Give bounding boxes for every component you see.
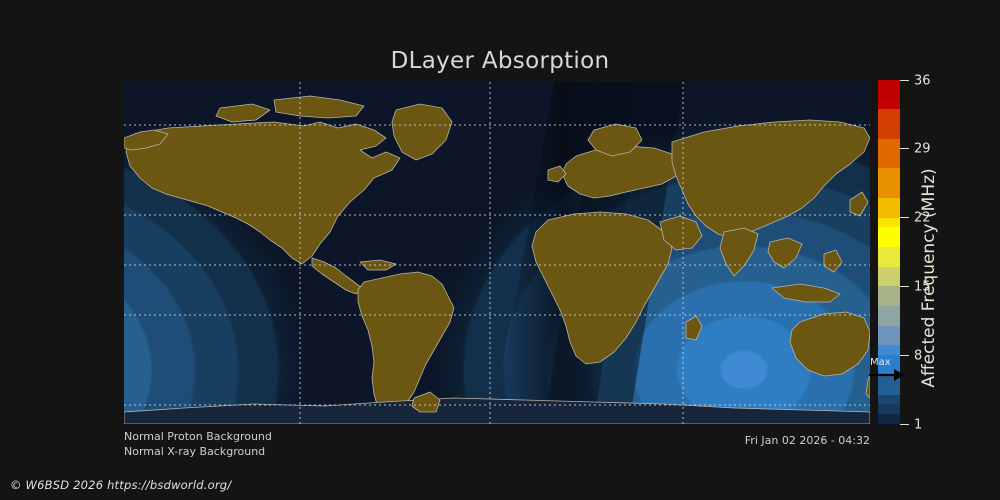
copyright-footer: © W6BSD 2026 https://bsdworld.org/ bbox=[10, 478, 231, 492]
colorbar-tick-dash bbox=[900, 424, 909, 425]
colorbar-tick-dash bbox=[900, 148, 909, 149]
colorbar-band bbox=[878, 109, 900, 138]
colorbar-axis-label: Affected Frequency (MHz) bbox=[916, 106, 942, 450]
colorbar-band bbox=[878, 306, 900, 326]
timestamp: Fri Jan 02 2026 - 04:32 bbox=[500, 434, 870, 447]
colorbar-band bbox=[878, 227, 900, 247]
colorbar-band bbox=[878, 80, 900, 109]
status-block: Normal Proton Background Normal X-ray Ba… bbox=[124, 429, 272, 459]
colorbar-band bbox=[878, 404, 900, 414]
colorbar-tick-dash bbox=[900, 355, 909, 356]
app-root: DLayer Absorption bbox=[0, 0, 1000, 500]
map-panel[interactable] bbox=[124, 82, 870, 424]
colorbar-band bbox=[878, 355, 900, 375]
colorbar-band bbox=[878, 168, 900, 197]
colorbar-tick-dash bbox=[900, 80, 909, 81]
colorbar-band bbox=[878, 375, 900, 395]
colorbar-band bbox=[878, 198, 900, 218]
colorbar[interactable] bbox=[878, 80, 900, 424]
status-proton-background: Normal Proton Background bbox=[124, 429, 272, 444]
colorbar-band bbox=[878, 395, 900, 405]
colorbar-tick-dash bbox=[900, 217, 909, 218]
colorbar-band bbox=[878, 414, 900, 424]
colorbar-band bbox=[878, 247, 900, 267]
colorbar-gradient bbox=[878, 80, 900, 424]
colorbar-band bbox=[878, 267, 900, 287]
world-map[interactable] bbox=[124, 82, 870, 424]
colorbar-tick-dash bbox=[900, 286, 909, 287]
colorbar-band bbox=[878, 139, 900, 168]
page-title: DLayer Absorption bbox=[0, 48, 1000, 74]
colorbar-band bbox=[878, 218, 900, 228]
colorbar-band bbox=[878, 345, 900, 355]
status-xray-background: Normal X-ray Background bbox=[124, 444, 272, 459]
colorbar-band bbox=[878, 326, 900, 346]
colorbar-tick-label: 36 bbox=[914, 74, 931, 87]
colorbar-band bbox=[878, 424, 900, 425]
colorbar-band bbox=[878, 286, 900, 306]
